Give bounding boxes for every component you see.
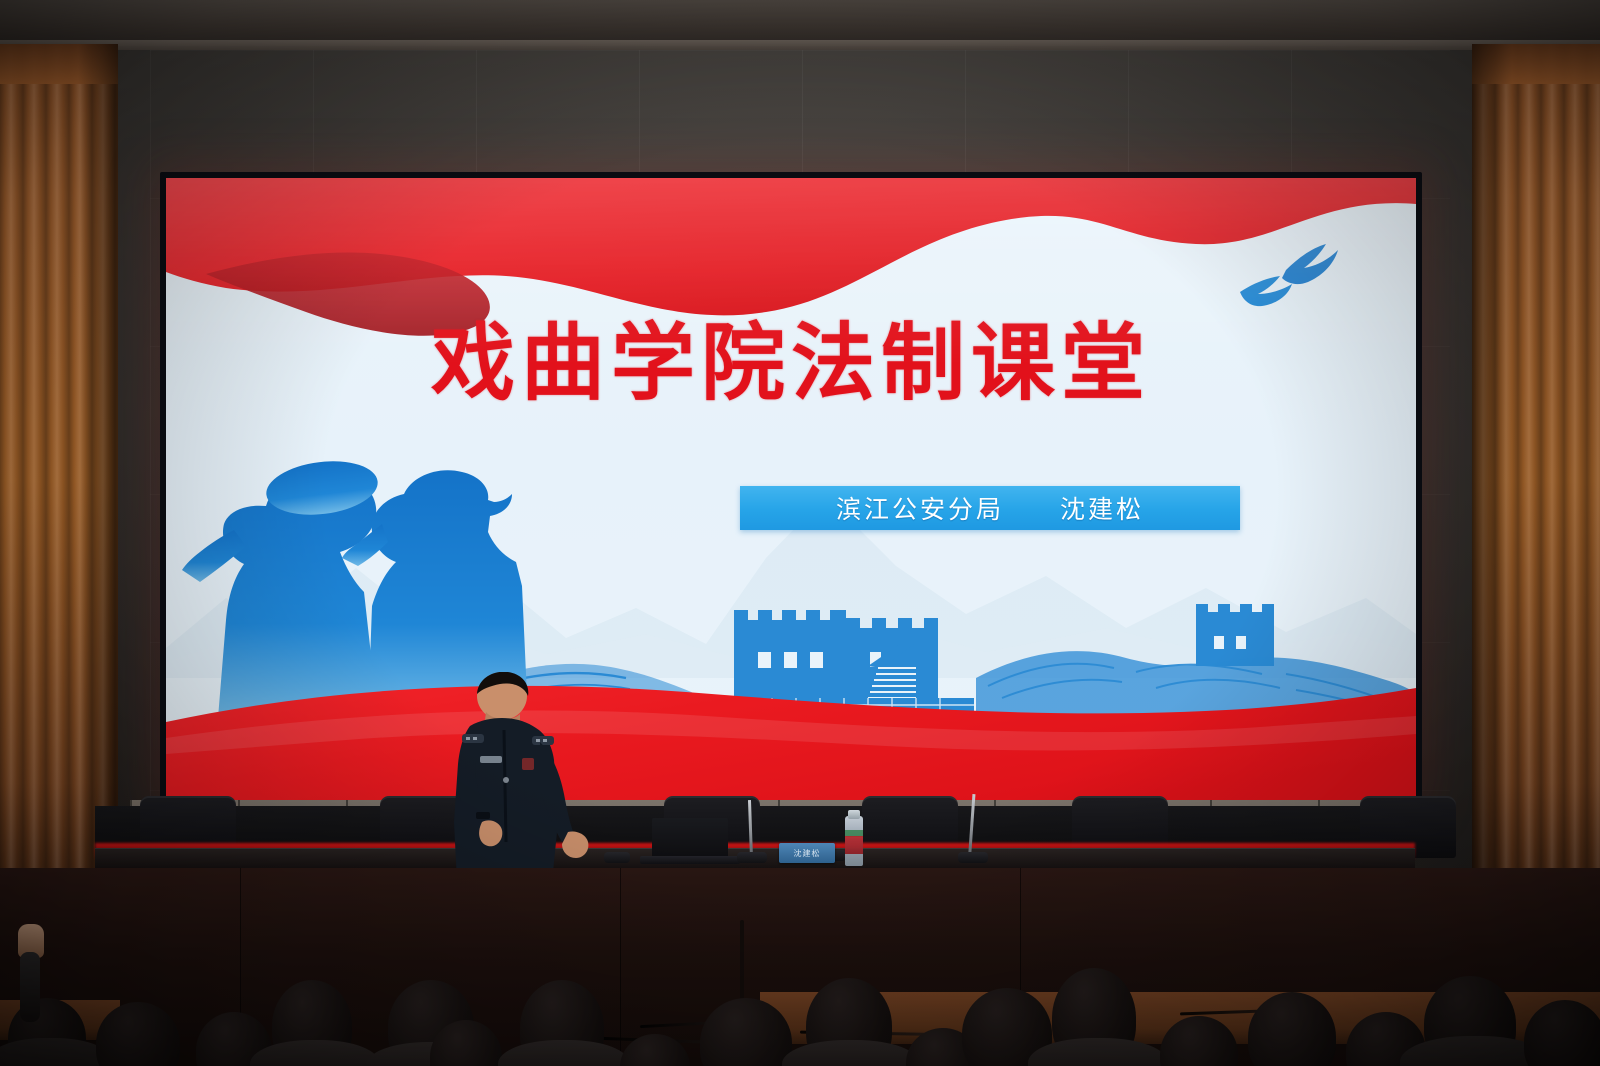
raised-arm <box>20 952 40 1022</box>
audience-head <box>700 998 792 1066</box>
audience-head <box>96 1002 180 1066</box>
laptop-base <box>640 856 740 864</box>
microphone-base <box>737 852 767 863</box>
curtain-right-shadow <box>1472 44 1512 884</box>
audience-shoulders <box>782 1040 920 1066</box>
laptop <box>652 818 728 860</box>
curtain-left-shadow <box>78 44 118 884</box>
presenter-banner: 滨江公安分局 沈建松 <box>740 486 1240 530</box>
audience-head <box>620 1034 690 1066</box>
audience-head <box>1248 992 1336 1066</box>
auditorium-scene: 戏曲学院法制课堂 滨江公安分局 沈建松 <box>0 0 1600 1066</box>
slide-title: 戏曲学院法制课堂 <box>166 296 1416 417</box>
audience-head <box>1524 1000 1600 1066</box>
red-wave-footer-icon <box>166 668 1416 800</box>
audience-shoulders <box>498 1040 630 1066</box>
desk-nameplate: 沈建松 <box>779 843 835 863</box>
water-bottle-cap <box>848 810 860 819</box>
microphone-base <box>958 852 988 863</box>
desk-nameplate-text: 沈建松 <box>794 848 821 859</box>
audience-head <box>1160 1016 1238 1066</box>
led-screen: 戏曲学院法制课堂 滨江公安分局 沈建松 <box>166 178 1416 800</box>
audience-row <box>0 930 1600 1066</box>
water-bottle-label <box>845 836 863 854</box>
presenter-banner-text: 滨江公安分局 沈建松 <box>836 490 1144 526</box>
